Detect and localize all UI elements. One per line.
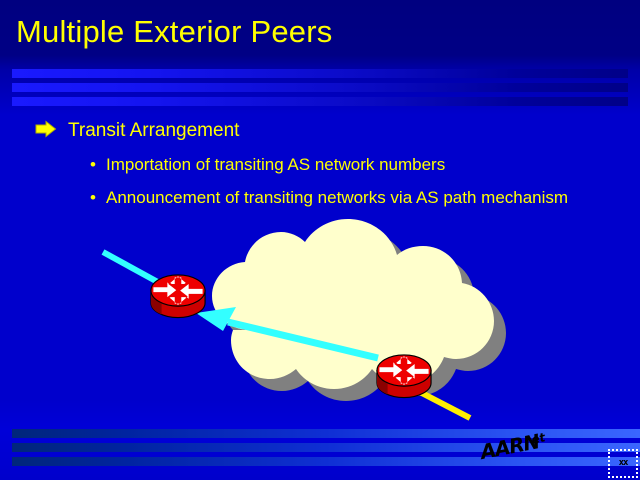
slide-canvas: Multiple Exterior Peers Transit Arrangem… <box>0 0 640 480</box>
bullet-level2-text-1: Importation of transiting AS network num… <box>106 153 586 177</box>
bullet-level2-item-1: • Importation of transiting AS network n… <box>90 153 586 177</box>
page-number: xx <box>610 458 636 468</box>
aarnet-logo: AARN et <box>483 430 553 464</box>
page-title: Multiple Exterior Peers <box>16 14 332 50</box>
right-arrow-icon <box>35 120 57 138</box>
decorative-band-top-1 <box>12 69 628 78</box>
bullet-level1-text: Transit Arrangement <box>68 119 239 143</box>
page-number-placeholder: xx <box>608 449 638 478</box>
bullet-level2-item-2: • Announcement of transiting networks vi… <box>90 186 586 210</box>
decorative-band-top-2 <box>12 83 628 92</box>
bullet-level2-text-2: Announcement of transiting networks via … <box>106 186 586 210</box>
decorative-band-top-3 <box>12 97 628 106</box>
bullet-dot-icon: • <box>90 186 96 210</box>
bullet-dot-icon: • <box>90 153 96 177</box>
aarnet-logo-suffix: et <box>530 430 547 447</box>
